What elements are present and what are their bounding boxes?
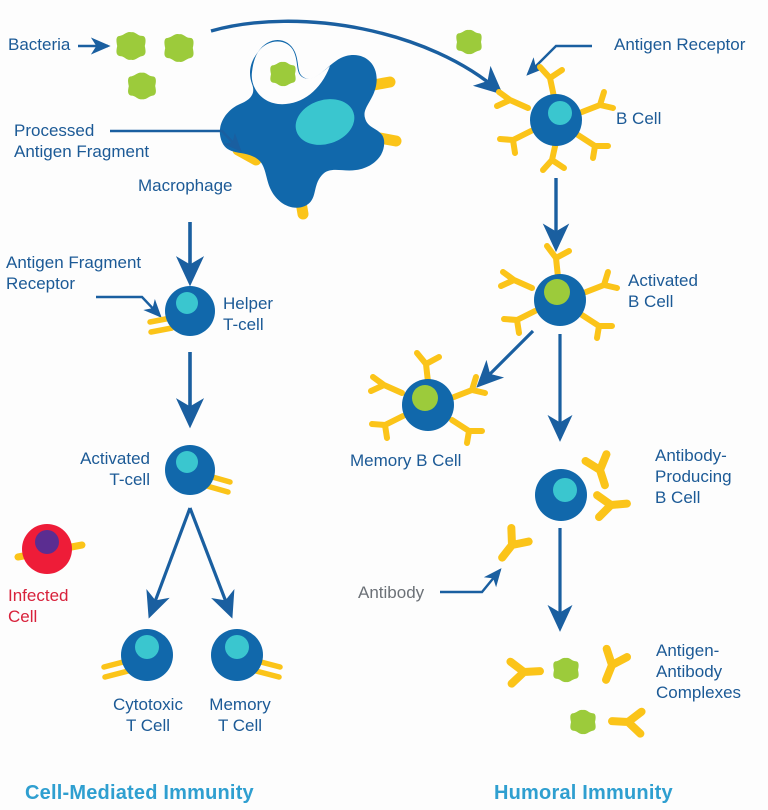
label-antibody-producing-b-cell: Antibody- Producing B Cell bbox=[655, 445, 732, 508]
label-processed-antigen-fragment: Processed Antigen Fragment bbox=[14, 120, 149, 162]
t-cell-icon-memory bbox=[211, 629, 280, 681]
label-activated-b-cell: Activated B Cell bbox=[628, 270, 698, 312]
b-cell-icon bbox=[497, 67, 613, 170]
label-infected-cell: Infected Cell bbox=[8, 585, 69, 627]
section-title-humoral-immunity: Humoral Immunity bbox=[494, 782, 673, 805]
arrow-icon-to-memory-tcell bbox=[190, 508, 231, 615]
label-antigen-antibody-complexes: Antigen- Antibody Complexes bbox=[656, 640, 741, 703]
antigen-antibody-complex-1 bbox=[510, 658, 578, 684]
label-antigen-receptor: Antigen Receptor bbox=[614, 34, 745, 55]
arrow-icon-antigen-fragment-receptor-leader bbox=[96, 297, 160, 316]
label-antibody: Antibody bbox=[358, 582, 424, 603]
antibody-icon-free bbox=[596, 649, 627, 684]
label-macrophage: Macrophage bbox=[138, 175, 233, 196]
b-cell-icon-activated bbox=[501, 246, 617, 338]
bacterium-icon-4 bbox=[456, 30, 481, 54]
antibody-icon-released-1 bbox=[586, 454, 616, 488]
bacterium-icon-1 bbox=[116, 32, 145, 60]
label-memory-b-cell: Memory B Cell bbox=[350, 450, 461, 471]
label-antigen-fragment-receptor: Antigen Fragment Receptor bbox=[6, 252, 141, 294]
label-activated-t-cell: Activated T-cell bbox=[20, 448, 150, 490]
bacterium-icon-3 bbox=[128, 73, 156, 100]
antibody-icon-released-3 bbox=[493, 528, 528, 564]
b-cell-icon-memory bbox=[371, 353, 485, 443]
label-bacteria: Bacteria bbox=[8, 34, 70, 55]
label-memory-t-cell: Memory T Cell bbox=[160, 694, 320, 736]
infected-cell-icon bbox=[18, 524, 82, 574]
bacterium-icon-2 bbox=[164, 34, 193, 62]
label-helper-t-cell: Helper T-cell bbox=[223, 293, 273, 335]
section-title-cell-mediated-immunity: Cell-Mediated Immunity bbox=[25, 782, 254, 805]
t-cell-icon-helper bbox=[150, 286, 215, 336]
t-cell-icon-activated bbox=[165, 445, 230, 495]
label-b-cell: B Cell bbox=[616, 108, 661, 129]
arrow-icon-to-memory-bcell bbox=[479, 331, 533, 385]
antibody-icon-released-2 bbox=[597, 493, 628, 517]
arrow-icon-antibody-leader bbox=[440, 570, 500, 592]
antigen-antibody-complex-2 bbox=[570, 710, 641, 734]
arrow-icon-to-cytotoxic-tcell bbox=[150, 508, 190, 615]
t-cell-icon-cytotoxic bbox=[104, 629, 173, 681]
macrophage-icon bbox=[220, 40, 396, 214]
immunity-diagram-canvas: Bacteria Processed Antigen Fragment Macr… bbox=[0, 0, 768, 810]
